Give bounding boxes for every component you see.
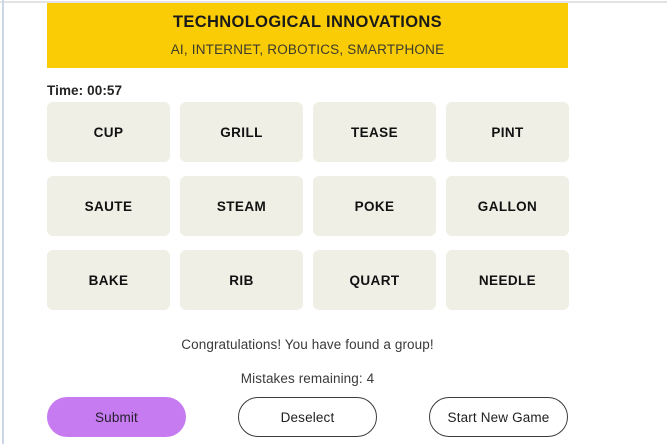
word-tile[interactable]: STEAM [180, 176, 303, 236]
word-tile[interactable]: NEEDLE [446, 250, 569, 310]
timer-label: Time: 00:57 [47, 83, 122, 98]
start-new-game-button[interactable]: Start New Game [429, 397, 568, 437]
word-tile[interactable]: CUP [47, 102, 170, 162]
word-tile[interactable]: POKE [313, 176, 436, 236]
word-tile[interactable]: GRILL [180, 102, 303, 162]
status-message: Congratulations! You have found a group! [0, 337, 615, 352]
submit-button[interactable]: Submit [47, 397, 186, 437]
word-grid: CUP GRILL TEASE PINT SAUTE STEAM POKE GA… [47, 102, 568, 310]
solved-category-title: TECHNOLOGICAL INNOVATIONS [173, 13, 442, 33]
word-tile[interactable]: BAKE [47, 250, 170, 310]
deselect-button[interactable]: Deselect [238, 397, 377, 437]
solved-category-words: AI, INTERNET, ROBOTICS, SMARTPHONE [171, 42, 445, 58]
solved-category-banner: TECHNOLOGICAL INNOVATIONS AI, INTERNET, … [47, 3, 568, 68]
mistakes-remaining-label: Mistakes remaining: 4 [0, 371, 615, 386]
action-button-row: Submit Deselect Start New Game [47, 397, 568, 437]
word-tile[interactable]: SAUTE [47, 176, 170, 236]
word-tile[interactable]: RIB [180, 250, 303, 310]
word-tile[interactable]: GALLON [446, 176, 569, 236]
word-tile[interactable]: PINT [446, 102, 569, 162]
word-tile[interactable]: QUART [313, 250, 436, 310]
word-tile[interactable]: TEASE [313, 102, 436, 162]
connections-game-page: TECHNOLOGICAL INNOVATIONS AI, INTERNET, … [0, 0, 667, 444]
